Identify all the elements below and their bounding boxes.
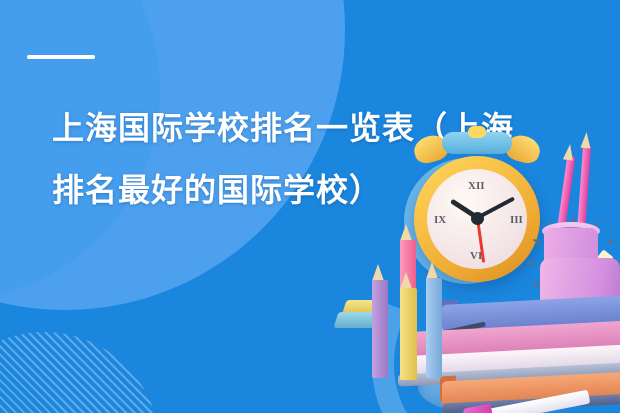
clock-center-pin [471, 212, 484, 225]
cup-pencil-pink-front [577, 146, 591, 232]
pencil-blue [426, 278, 442, 378]
promo-banner: 上海国际学校排名一览表（上海 排名最好的国际学校） [0, 0, 620, 413]
clock-numeral-3: III [510, 214, 523, 226]
school-supplies-illustration: XII III VI IX [330, 128, 620, 413]
clock-numeral-12: XII [468, 180, 485, 192]
accent-rule [27, 55, 95, 59]
clock-top-knob [468, 126, 486, 138]
pencil-yellow [400, 288, 417, 380]
clock-numeral-9: IX [434, 214, 446, 226]
pencil-blue-tip [426, 262, 438, 279]
pencil-purple-tip [372, 264, 384, 281]
pencil-pink-tip [400, 224, 412, 241]
pencil-purple [372, 280, 388, 378]
cup-pencil-tip-front [580, 132, 591, 149]
pencil-yellow-tip [400, 272, 412, 289]
